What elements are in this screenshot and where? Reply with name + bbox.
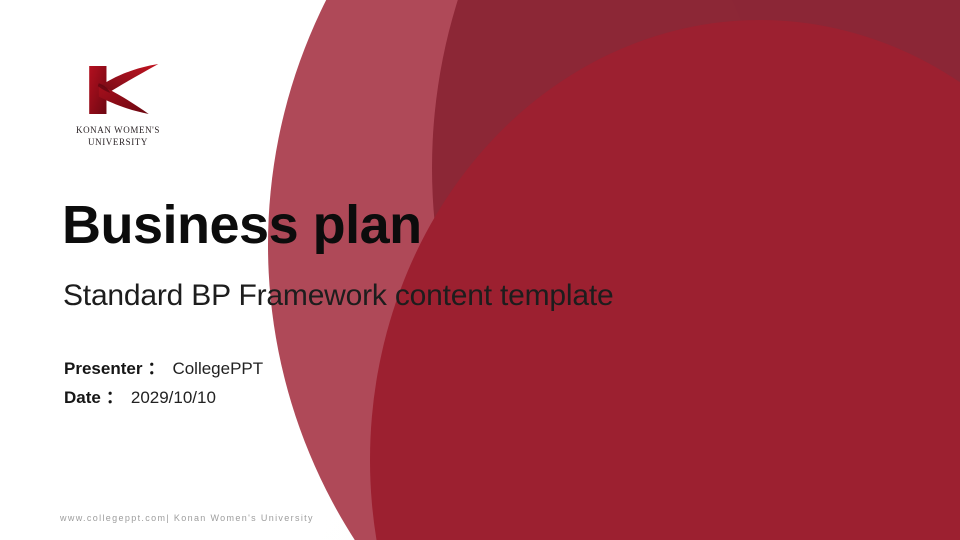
logo-wordmark: KONAN WOMEN'S UNIVERSITY [58, 124, 178, 148]
date-row: Date：2029/10/10 [64, 384, 263, 413]
slide-title: Business plan [62, 198, 422, 252]
presenter-row: Presenter：CollegePPT [64, 355, 263, 384]
presentation-slide: KONAN WOMEN'S UNIVERSITY Business plan S… [0, 0, 960, 540]
date-label: Date [64, 388, 101, 407]
date-value: 2029/10/10 [126, 388, 216, 407]
presenter-value: CollegePPT [167, 359, 263, 378]
slide-subtitle: Standard BP Framework content template [63, 279, 613, 312]
university-logo: KONAN WOMEN'S UNIVERSITY [58, 58, 178, 148]
date-separator: ： [101, 388, 126, 407]
presenter-separator: ： [142, 359, 167, 378]
konan-k-mark-icon [70, 58, 166, 120]
presenter-label: Presenter [64, 359, 142, 378]
presenter-info-block: Presenter：CollegePPT Date：2029/10/10 [64, 355, 263, 413]
slide-footer: www.collegeppt.com| Konan Women's Univer… [60, 513, 314, 523]
